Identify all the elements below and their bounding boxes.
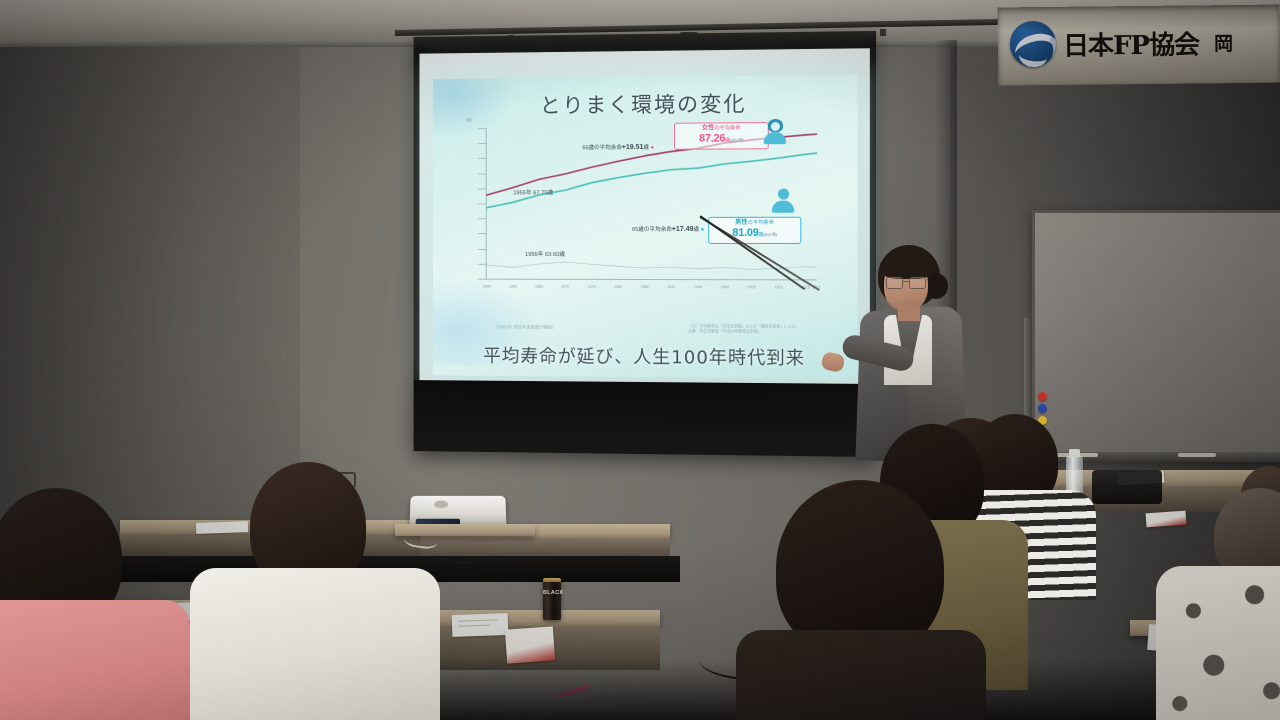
female-life-expectancy-callout: 女性の平均寿命 87.26歳(2017年)	[674, 122, 769, 149]
whiteboard-eraser[interactable]	[1178, 453, 1216, 457]
female-person-icon	[763, 120, 787, 146]
projector-signal-cable	[434, 540, 494, 564]
female-baseline-label: 1955年 67.75歳	[513, 187, 553, 196]
male-person-icon	[771, 188, 795, 214]
screen-surface: とりまく環境の変化 （歳） 19551960196519701975198019…	[419, 48, 869, 385]
coffee-can[interactable]: BLACK	[543, 578, 561, 620]
jafp-logo-icon	[1010, 21, 1056, 67]
attendee-torso	[736, 630, 986, 720]
x-axis-tick-label: 1970	[561, 285, 569, 289]
x-axis-tick-label: 1955	[483, 285, 491, 289]
y-axis-tick	[478, 188, 486, 189]
female-marker-icon: ●	[651, 145, 654, 151]
slide-content: とりまく環境の変化 （歳） 19551960196519701975198019…	[433, 75, 857, 379]
chair	[1092, 470, 1162, 504]
x-axis-tick-label: 1980	[614, 285, 622, 289]
y-axis-tick	[478, 158, 486, 159]
x-axis-tick-label: 1995	[694, 285, 702, 289]
presenter-fringe	[880, 253, 932, 279]
glasses-icon	[308, 472, 356, 488]
x-axis-tick-label: 2010	[775, 285, 783, 289]
seminar-room-scene: 日本FP協会 岡 とりまく環境の変化 （歳） 19551960196519701…	[0, 0, 1280, 720]
x-axis-tick-label: 1960	[509, 285, 517, 289]
attendee-torso	[190, 568, 440, 720]
attendee-front-right	[746, 480, 976, 720]
y-axis-tick	[478, 279, 486, 280]
attendee-torso-floral	[1156, 566, 1280, 720]
chart-footnote-left: （1961年 国民年金制度が開始）	[494, 324, 557, 330]
rail-hook-icon	[880, 29, 886, 36]
magnet-blue-icon[interactable]	[1038, 404, 1047, 413]
projector-lens-icon	[434, 501, 448, 509]
y-axis-unit-label: （歳）	[463, 118, 474, 123]
banner-partial-text: 岡	[1214, 29, 1233, 56]
seminar-booklet[interactable]	[505, 626, 555, 663]
x-axis-tick-label: 1975	[588, 285, 596, 289]
handout-paper[interactable]	[452, 613, 509, 637]
life-expectancy-chart: （歳） 195519601965197019751980198519901995…	[458, 120, 834, 312]
y-axis-tick	[478, 218, 486, 219]
x-axis-tick-label: 1965	[535, 285, 543, 289]
y-axis-tick	[478, 264, 486, 265]
y-axis-tick	[478, 203, 486, 204]
female-remaining-life-annotation: 65歳の平均余命+19.51歳 ●	[582, 143, 654, 151]
x-axis-tick-label: 2005	[748, 285, 756, 289]
attendee-front-center-left	[196, 462, 426, 720]
organization-banner: 日本FP協会 岡	[998, 5, 1280, 86]
y-axis-tick	[478, 233, 486, 234]
can-label: BLACK	[543, 590, 561, 596]
magnet-red-icon[interactable]	[1038, 392, 1047, 401]
glasses-icon	[886, 277, 926, 287]
attendee-back-right-floral	[1168, 492, 1280, 720]
presenter-neck	[898, 305, 920, 321]
y-axis-tick	[478, 128, 486, 129]
x-axis-tick-label: 1985	[641, 285, 649, 289]
x-axis-tick-label: 1990	[667, 285, 675, 289]
presenter-hand	[820, 351, 845, 373]
male-marker-icon: ●	[701, 227, 704, 233]
y-axis-tick	[478, 249, 486, 250]
attendee-torso	[0, 600, 190, 720]
y-axis-tick	[478, 143, 486, 144]
male-remaining-life-annotation: 65歳の平均余命+17.49歳 ●	[632, 225, 704, 233]
banner-org-name: 日本FP協会	[1063, 24, 1199, 62]
slide-caption: 平均寿命が延び、人生100年時代到来	[433, 342, 857, 371]
y-axis-tick	[478, 173, 486, 174]
slide-title: とりまく環境の変化	[433, 87, 857, 121]
male-baseline-label: 1955年 63.60歳	[525, 249, 565, 258]
x-axis-tick-label: 2000	[721, 285, 729, 289]
